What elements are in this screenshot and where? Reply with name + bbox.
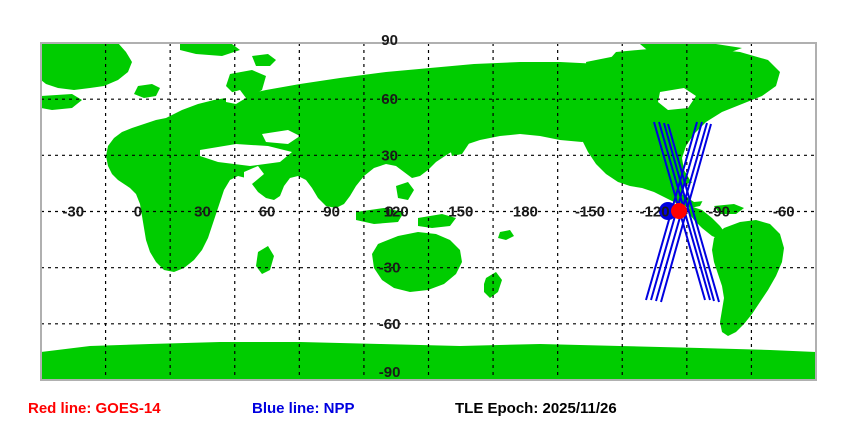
lon-tick-label-150: 150 (448, 204, 473, 221)
goes14-satellite-marker (671, 203, 687, 219)
satellite-ground-track-figure: -300306090120150180-150-120-90-60 906030… (0, 0, 850, 425)
legend-blue-line-npp: Blue line: NPP (252, 400, 355, 417)
lon-tick-label-180: 180 (513, 204, 538, 221)
lon-tick-label--60: -60 (773, 204, 795, 221)
lon-tick-label--30: -30 (62, 204, 84, 221)
lat-tick-label--60: -60 (379, 316, 401, 333)
lon-tick-label-30: 30 (194, 204, 211, 221)
lat-tick-label--90: -90 (379, 364, 401, 381)
lon-tick-label-60: 60 (259, 204, 276, 221)
world-map-svg: -300306090120150180-150-120-90-60 906030… (0, 0, 850, 425)
lat-tick-label--30: -30 (379, 260, 401, 277)
lat-tick-label-0: 0 (385, 204, 393, 221)
world-map-panel: -300306090120150180-150-120-90-60 906030… (0, 0, 850, 425)
lon-tick-label--120: -120 (640, 204, 670, 221)
lon-tick-label--90: -90 (708, 204, 730, 221)
lat-tick-label-90: 90 (381, 32, 398, 49)
legend-red-line-goes14: Red line: GOES-14 (28, 400, 161, 417)
lat-tick-label-30: 30 (381, 147, 398, 164)
lon-tick-label-0: 0 (134, 204, 142, 221)
legend-tle-epoch: TLE Epoch: 2025/11/26 (455, 400, 617, 417)
lon-tick-label--150: -150 (575, 204, 605, 221)
lon-tick-label-90: 90 (323, 204, 340, 221)
lat-tick-label-60: 60 (381, 91, 398, 108)
